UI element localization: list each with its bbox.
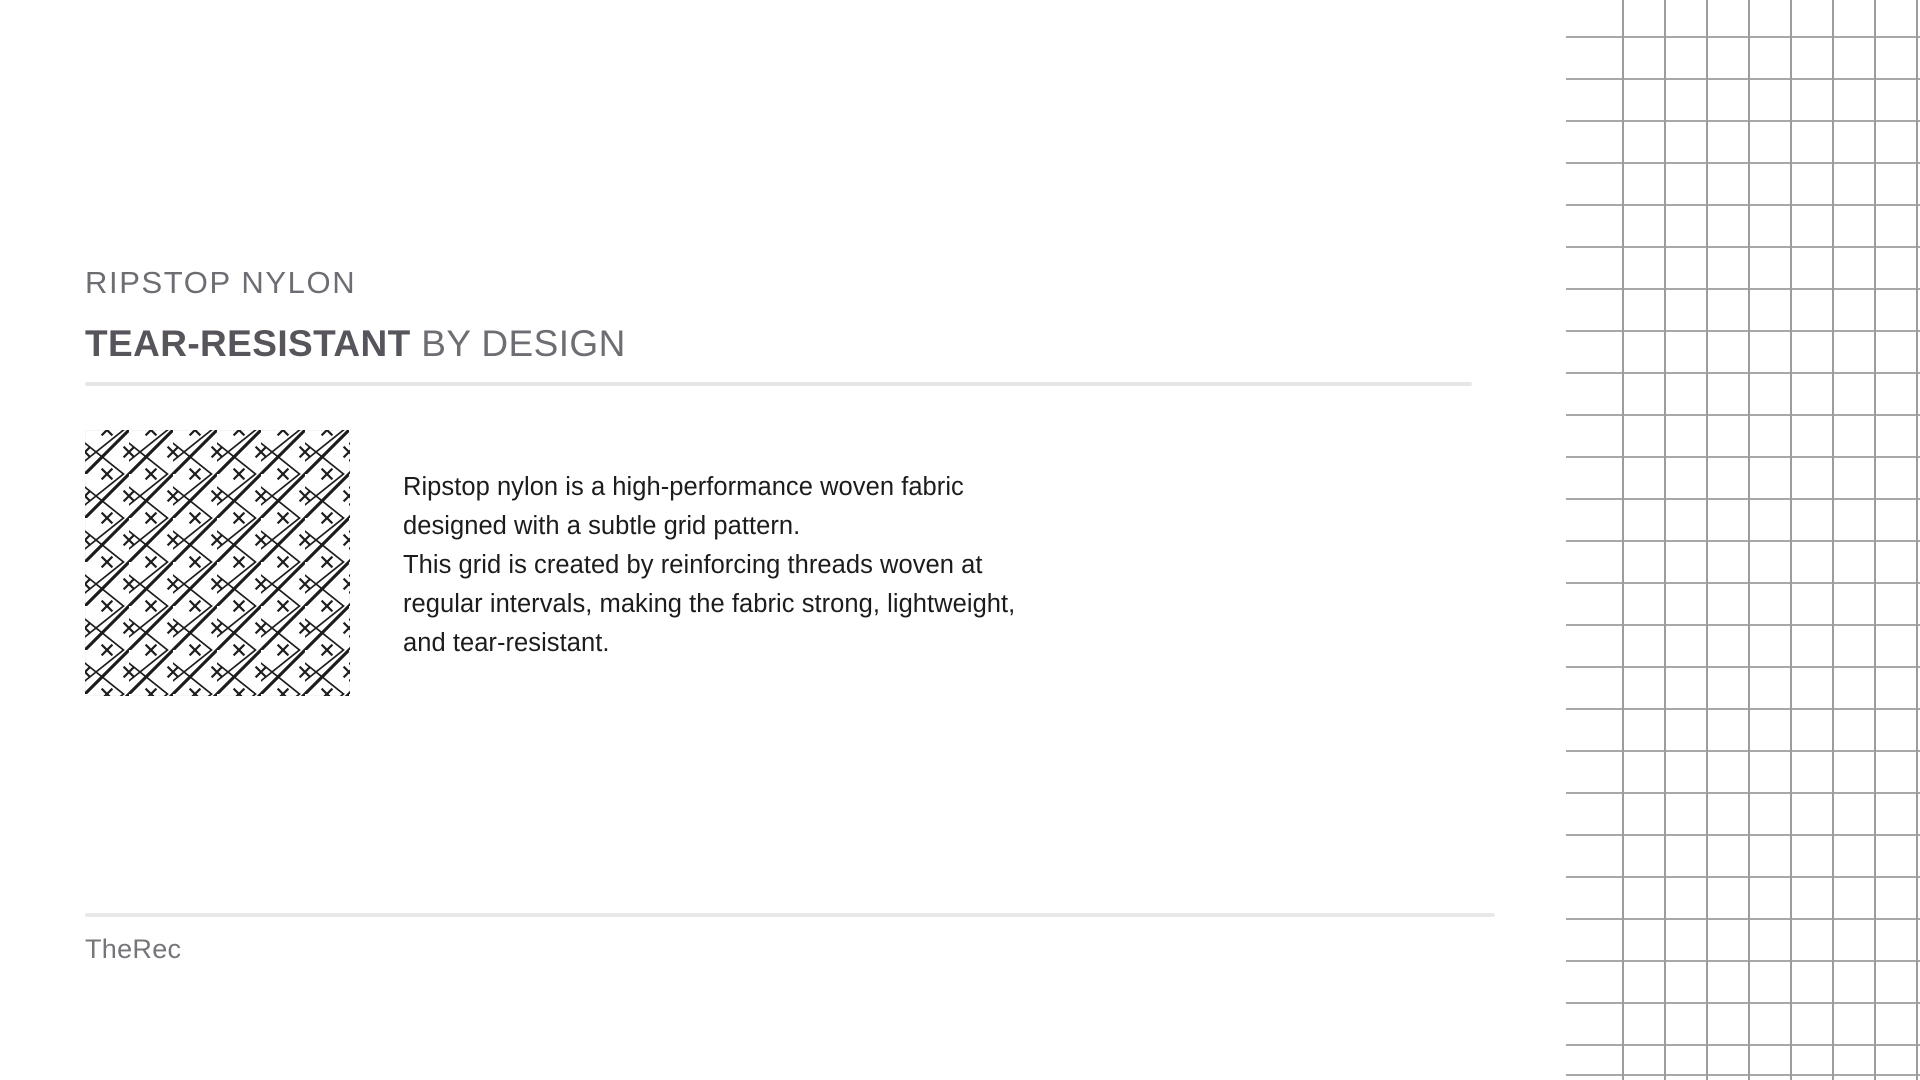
footer-brand-label: TheRec <box>85 936 181 963</box>
slide-content: RIPSTOP NYLON TEAR-RESISTANT BY DESIGN R… <box>85 0 1505 1080</box>
slide-canvas: RIPSTOP NYLON TEAR-RESISTANT BY DESIGN R… <box>0 0 1920 1080</box>
grid-vertical-lines <box>1622 0 1920 1080</box>
eyebrow-label: RIPSTOP NYLON <box>85 267 356 298</box>
headline-strong: TEAR-RESISTANT <box>85 323 411 364</box>
divider-bottom <box>85 913 1495 917</box>
description-line: Ripstop nylon is a high-performance wove… <box>403 468 1163 507</box>
grid-horizontal-lines <box>1566 0 1920 1080</box>
description-line: and tear-resistant. <box>403 624 1163 663</box>
page-title: TEAR-RESISTANT BY DESIGN <box>85 325 626 362</box>
description-line: This grid is created by reinforcing thre… <box>403 546 1163 585</box>
decorative-grid-panel <box>1566 0 1920 1080</box>
divider-top <box>85 382 1472 386</box>
description-line: regular intervals, making the fabric str… <box>403 585 1163 624</box>
headline-light: BY DESIGN <box>411 323 626 364</box>
description-line: designed with a subtle grid pattern. <box>403 507 1163 546</box>
description-text: Ripstop nylon is a high-performance wove… <box>403 468 1163 663</box>
fabric-swatch-image <box>85 430 350 696</box>
